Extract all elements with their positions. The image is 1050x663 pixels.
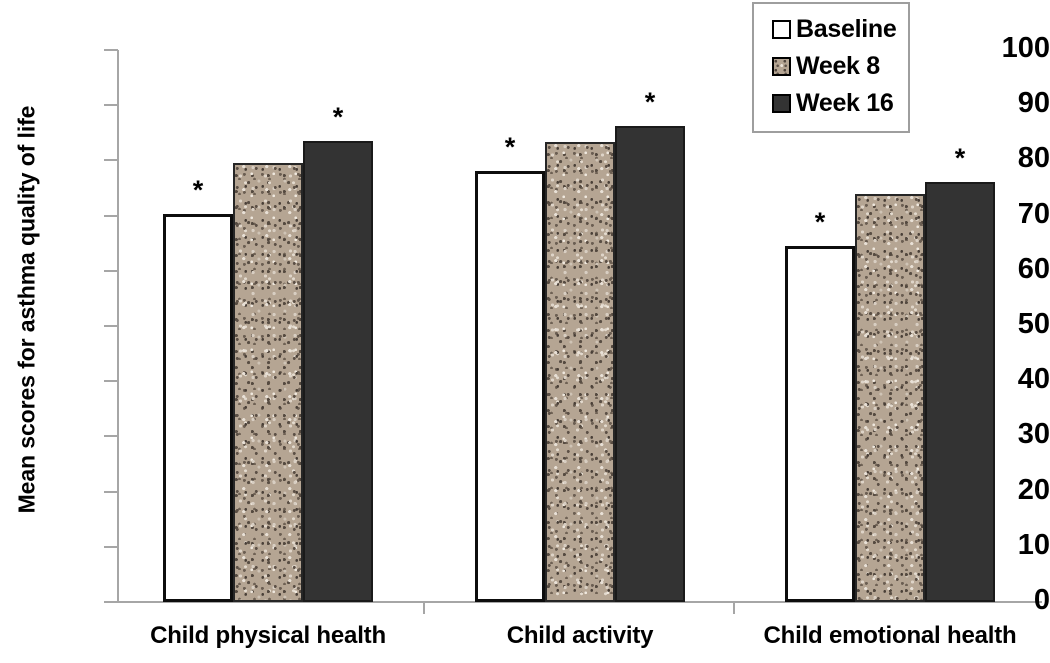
legend-label-baseline: Baseline <box>796 15 896 44</box>
y-axis-tick <box>104 325 118 327</box>
chart-legend: Baseline Week 8 Week 16 <box>752 2 910 133</box>
significance-marker: * <box>785 209 855 236</box>
y-axis-tick-label: 90 <box>955 89 1050 118</box>
bar-2-2 <box>925 182 995 602</box>
bar-0-2 <box>785 246 855 602</box>
significance-marker: * <box>303 104 373 131</box>
y-axis-tick <box>104 270 118 272</box>
y-axis-tick <box>104 215 118 217</box>
significance-marker: * <box>925 145 995 172</box>
legend-item-week8[interactable]: Week 8 <box>754 48 908 85</box>
bar-2-1 <box>615 126 685 602</box>
bar-1-2 <box>855 194 925 602</box>
x-axis-tick <box>423 601 425 614</box>
y-axis-tick <box>104 104 118 106</box>
bar-0-1 <box>475 171 545 602</box>
bar-1-0 <box>233 163 303 602</box>
bar-1-1 <box>545 142 615 602</box>
legend-label-week16: Week 16 <box>796 89 894 118</box>
y-axis-title: Mean scores for asthma quality of life <box>14 25 41 595</box>
y-axis-tick <box>104 546 118 548</box>
bar-chart: Mean scores for asthma quality of life 1… <box>0 0 1050 663</box>
legend-swatch-week8-icon <box>772 57 791 76</box>
x-axis-tick <box>733 601 735 614</box>
y-axis-tick <box>104 491 118 493</box>
legend-swatch-baseline-icon <box>772 20 791 39</box>
y-axis-tick <box>104 159 118 161</box>
y-axis-tick <box>104 49 118 51</box>
legend-swatch-week16-icon <box>772 94 791 113</box>
bar-0-0 <box>163 214 233 602</box>
legend-item-baseline[interactable]: Baseline <box>754 11 908 48</box>
legend-item-week16[interactable]: Week 16 <box>754 85 908 122</box>
y-axis-tick <box>104 380 118 382</box>
legend-label-week8: Week 8 <box>796 52 880 81</box>
y-axis-tick <box>104 601 118 603</box>
y-axis-tick <box>104 435 118 437</box>
significance-marker: * <box>475 134 545 161</box>
bar-2-0 <box>303 141 373 602</box>
y-axis-tick-label: 100 <box>955 34 1050 63</box>
significance-marker: * <box>163 177 233 204</box>
x-axis-category-label: Child emotional health <box>690 622 1050 650</box>
significance-marker: * <box>615 89 685 116</box>
